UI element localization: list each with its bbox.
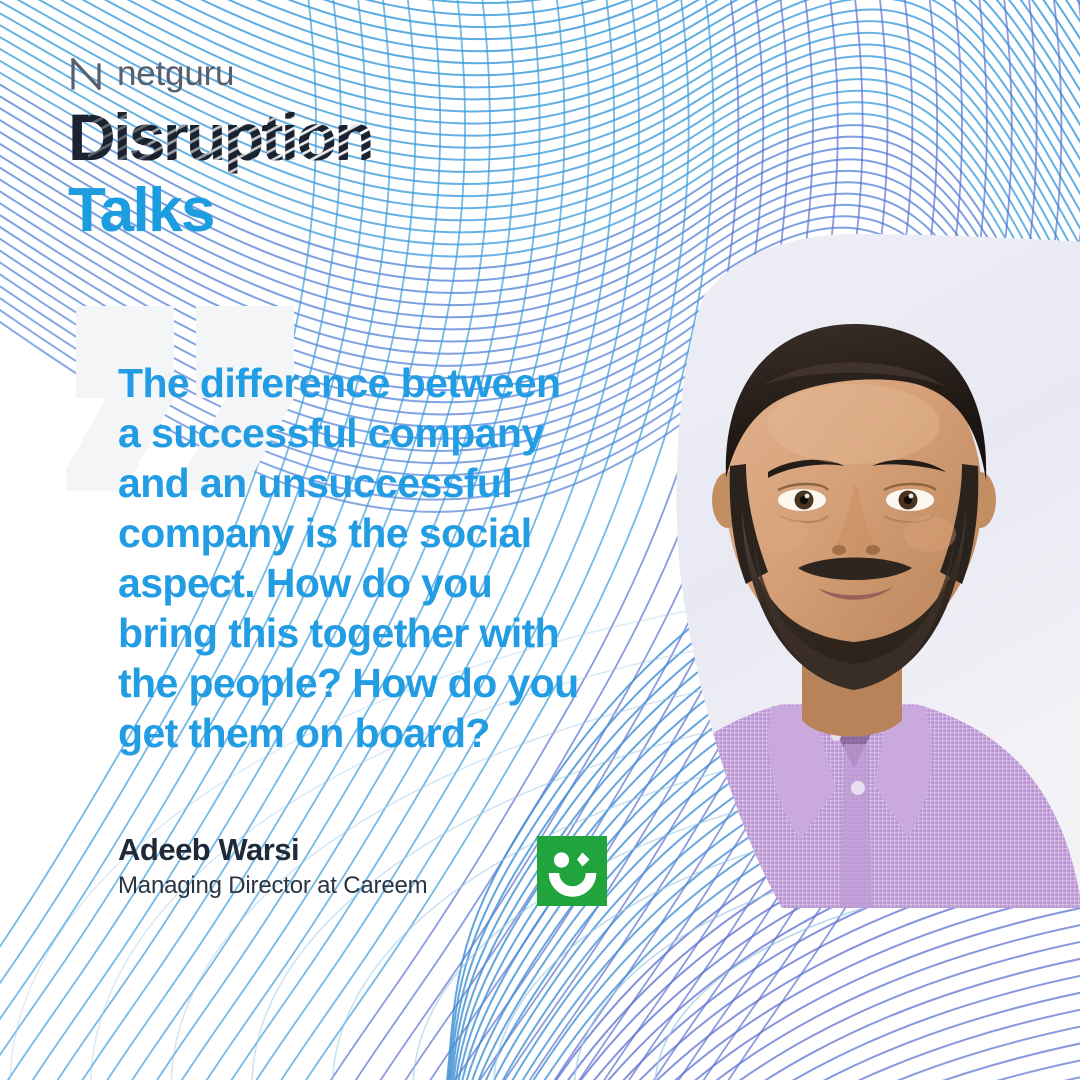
title-disruption-striped: Disruption Disruption bbox=[68, 104, 468, 174]
netguru-wordmark: netguru bbox=[117, 56, 234, 91]
quote-line: The difference between bbox=[118, 360, 560, 406]
title-talks-text: Talks bbox=[68, 180, 468, 242]
quote-line: aspect. How do you bbox=[118, 560, 492, 606]
page-title: Disruption Disruption Talks bbox=[68, 104, 468, 242]
speaker-block: Adeeb Warsi Managing Director at Careem bbox=[118, 832, 427, 900]
quote-line: bring this together with bbox=[118, 610, 559, 656]
quote-line: get them on board? bbox=[118, 710, 490, 756]
disruption-talks-quote-card: netguru Disruption Disruption bbox=[0, 0, 1080, 1080]
quote-text: The difference between a successful comp… bbox=[118, 358, 588, 758]
speaker-name: Adeeb Warsi bbox=[118, 832, 427, 868]
quote-line: and an unsuccessful bbox=[118, 460, 512, 506]
quote-line: company is the social bbox=[118, 510, 532, 556]
careem-logo-icon bbox=[537, 836, 607, 906]
quote-line: the people? How do you bbox=[118, 660, 579, 706]
speaker-role: Managing Director at Careem bbox=[118, 872, 427, 901]
quote-line: a successful company bbox=[118, 410, 544, 456]
speaker-portrait-photo bbox=[586, 228, 1080, 908]
netguru-n-mark-icon bbox=[70, 57, 104, 91]
netguru-logo: netguru bbox=[70, 56, 234, 91]
